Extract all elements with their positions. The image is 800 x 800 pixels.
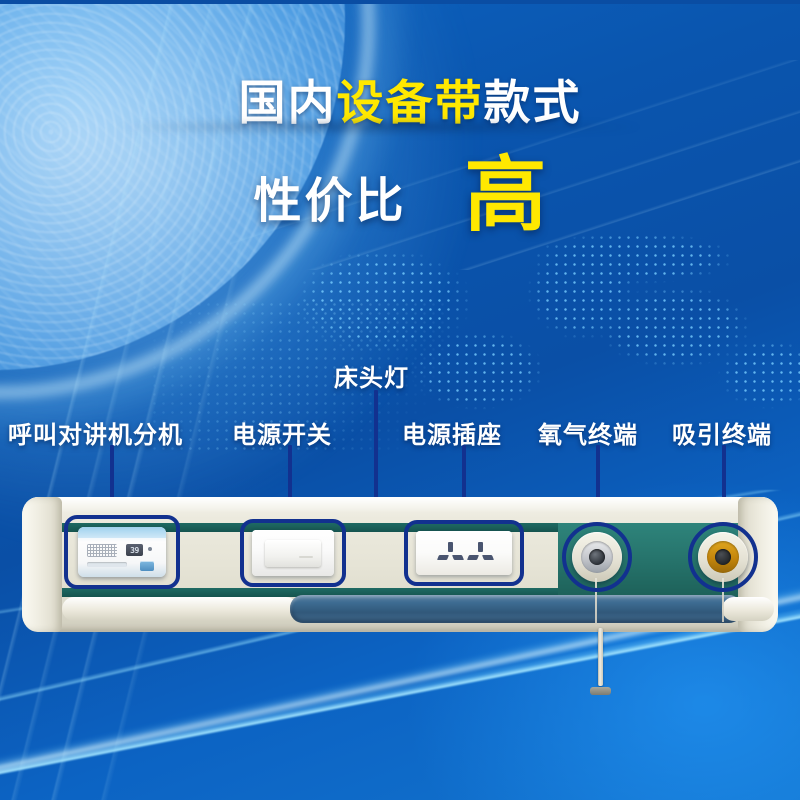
headline-line-2: 性价比 高 bbox=[0, 158, 800, 233]
socket-outlet-right[interactable] bbox=[466, 542, 496, 564]
nurse-call-intercom-unit[interactable]: 39 bbox=[78, 527, 166, 577]
suction-terminal-ring bbox=[707, 541, 739, 573]
intercom-display: 39 bbox=[126, 544, 143, 556]
panel-top-highlight bbox=[22, 497, 778, 513]
speaker-grille-icon bbox=[87, 544, 117, 557]
emphasis-character: 高 bbox=[465, 158, 547, 233]
pull-cord-rod bbox=[598, 628, 603, 686]
callout-label-switch: 电源开关 bbox=[232, 415, 332, 450]
panel-drop-shadow bbox=[6, 118, 750, 136]
oxygen-terminal-ring bbox=[581, 541, 613, 573]
suction-terminal-outlet[interactable] bbox=[698, 532, 748, 582]
socket-pin-left bbox=[437, 555, 449, 560]
socket-outlet-left[interactable] bbox=[436, 542, 466, 564]
handrail-tube bbox=[290, 595, 742, 623]
suction-cord bbox=[722, 578, 724, 622]
panel-end-cap-left bbox=[22, 497, 62, 632]
handrail-cap-right bbox=[722, 597, 774, 621]
suction-terminal-port bbox=[715, 549, 731, 565]
power-light-switch[interactable] bbox=[252, 530, 334, 576]
socket-pin-left bbox=[467, 555, 479, 560]
callout-label-socket: 电源插座 bbox=[402, 415, 502, 450]
cross-grip-vertical bbox=[596, 680, 605, 704]
oxygen-terminal-outlet[interactable] bbox=[572, 532, 622, 582]
socket-pin-vertical bbox=[448, 542, 453, 552]
intercom-slot bbox=[87, 562, 127, 567]
oxygen-terminal-port bbox=[589, 549, 605, 565]
infographic-canvas: 国内设备带款式 性价比 高 呼叫对讲机分机 电源开关 床头灯 电源插座 氧气终端… bbox=[0, 0, 800, 800]
pull-cord-handle[interactable] bbox=[588, 628, 612, 708]
value-for-money-text: 性价比 bbox=[253, 161, 406, 231]
intercom-call-button[interactable] bbox=[140, 561, 154, 571]
top-edge-bar bbox=[0, 0, 800, 4]
callout-label-oxygen: 氧气终端 bbox=[538, 415, 638, 450]
intercom-top-band bbox=[78, 527, 166, 538]
socket-pin-right bbox=[482, 555, 494, 560]
callout-label-bed-lamp: 床头灯 bbox=[334, 358, 409, 393]
switch-rocker-paddle[interactable] bbox=[265, 540, 321, 567]
switch-indicator-mark bbox=[299, 556, 313, 558]
handrail-cap-left bbox=[62, 597, 298, 621]
socket-pin-vertical bbox=[478, 542, 483, 552]
status-led-icon bbox=[148, 547, 152, 551]
callout-label-intercom: 呼叫对讲机分机 bbox=[8, 415, 183, 450]
oxygen-cord bbox=[595, 578, 597, 626]
pull-cord-cross-grip bbox=[590, 680, 611, 701]
socket-pin-right bbox=[452, 555, 464, 560]
power-socket-outlet[interactable] bbox=[416, 531, 512, 575]
